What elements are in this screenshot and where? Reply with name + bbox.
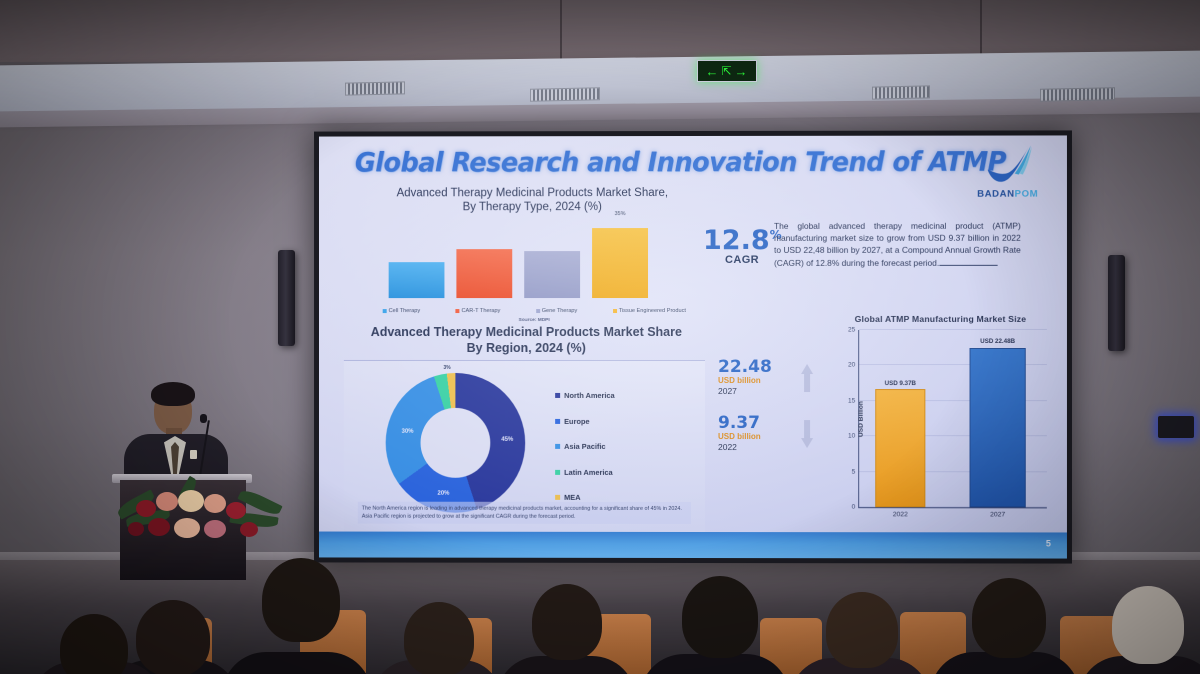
microphone-head (200, 414, 207, 423)
stat-2027: 22.48 USD billion 2027 (718, 358, 822, 397)
exit-arrow-left-icon: ← (705, 65, 719, 78)
stat-2022: 9.37 USD billion 2022 (718, 414, 822, 453)
region-insight-note: The North America region is leading in a… (358, 502, 691, 524)
legend-item-latin-america: Latin America (555, 459, 615, 485)
legend-item-cart-therapy: CAR-T Therapy (456, 308, 501, 314)
logo-text-badan: BADAN (977, 189, 1014, 200)
market-size-stats: 22.48 USD billion 2027 9.37 USD billion … (718, 358, 822, 470)
wall-speaker-right (1108, 255, 1125, 351)
exit-sign: ← ⇱ → (697, 60, 757, 82)
bar-cart-therapy (456, 249, 512, 298)
bar-cell-therapy (389, 262, 445, 298)
ytick-0: 0 (852, 504, 856, 511)
legend-item-cell-therapy: Cell Therapy (383, 308, 420, 314)
presenter-hair (151, 382, 195, 406)
market-size-chart-title: Global ATMP Manufacturing Market Size (828, 314, 1053, 324)
arrow-up-icon (800, 362, 814, 394)
audience-head (532, 584, 602, 660)
therapy-type-bar-chart: 35% Cell Therapy CAR-T Therapy Gene Ther… (381, 218, 688, 316)
market-size-plot-area: 0 5 10 15 20 25 USD Billion USD 9.37B 20… (858, 330, 1047, 508)
exit-arrow-right-icon: → (735, 65, 749, 78)
donut-label-latin-america: 3% (443, 365, 450, 371)
bar-2027-data-label: USD 22.48B (980, 338, 1015, 345)
bar-gene-therapy (524, 251, 580, 298)
bar-label-tissue: 35% (600, 211, 640, 217)
bar-2022-data-label: USD 9.37B (885, 380, 916, 387)
presenter-badge (190, 450, 197, 459)
bar-2027 (970, 348, 1026, 507)
cagr-stat: 12.8% CAGR (703, 222, 781, 266)
region-chart-title-line1: Advanced Therapy Medicinal Products Mark… (347, 324, 706, 340)
ytick-5: 5 (852, 468, 856, 475)
audience-head (404, 602, 474, 674)
audience (0, 556, 1200, 674)
legend-item-tissue-engineered: Tissue Engineered Product (613, 308, 686, 314)
therapy-type-chart-title-line1: Advanced Therapy Medicinal Products Mark… (383, 186, 682, 200)
donut-label-north-america: 45% (501, 437, 513, 443)
legend-item-north-america: North America (555, 383, 615, 409)
region-chart-title: Advanced Therapy Medicinal Products Mark… (347, 324, 706, 356)
ytick-25: 25 (848, 326, 855, 333)
wall-speaker-left (278, 250, 295, 346)
ceiling-vent-icon (530, 87, 600, 101)
checkmark-swoosh-icon (982, 144, 1034, 188)
audience-head (826, 592, 898, 668)
xtick-2022: 2022 (893, 511, 908, 518)
legend-item-asia-pacific: Asia Pacific (555, 434, 615, 460)
ytick-15: 15 (848, 397, 855, 404)
floral-arrangement (118, 478, 282, 550)
therapy-type-legend: Cell Therapy CAR-T Therapy Gene Therapy … (381, 308, 688, 314)
conference-room-photo: ← ⇱ → Global Research and Innovation Tre… (0, 0, 1200, 674)
logo-text: BADANPOM (966, 189, 1050, 200)
market-size-bar-chart: Global ATMP Manufacturing Market Size 0 … (828, 314, 1053, 537)
audience-head (262, 558, 340, 642)
projection-screen: Global Research and Innovation Trend of … (314, 130, 1072, 563)
cagr-value: 12.8% (703, 222, 781, 254)
wall-control-panel (1158, 416, 1194, 438)
presentation-slide: Global Research and Innovation Trend of … (319, 135, 1067, 558)
bar-2022 (875, 389, 925, 507)
legend-item-gene-therapy: Gene Therapy (536, 308, 578, 314)
audience-head (136, 600, 210, 674)
arrow-down-icon (800, 418, 814, 450)
therapy-type-plot-area: 35% (381, 220, 688, 298)
slide-title: Global Research and Innovation Trend of … (355, 147, 1006, 179)
badan-pom-logo: BADANPOM (966, 143, 1050, 205)
market-size-y-axis-label: USD Billion (858, 401, 865, 437)
logo-text-pom: POM (1015, 189, 1039, 200)
ceiling-vent-icon (1040, 87, 1115, 102)
gridline: 25 (859, 329, 1047, 330)
region-donut-chart: 45% 20% 30% 3% (386, 373, 526, 513)
audience-head (682, 576, 758, 658)
market-summary-paragraph: The global advanced therapy medicinal pr… (774, 220, 1021, 269)
ytick-20: 20 (848, 362, 855, 369)
slide-footer-bar: 5 (319, 532, 1067, 559)
region-chart-title-line2: By Region, 2024 (%) (347, 340, 706, 356)
ytick-10: 10 (848, 433, 855, 440)
audience-head (60, 614, 128, 674)
xtick-2027: 2027 (990, 511, 1005, 518)
legend-item-europe: Europe (555, 408, 615, 434)
donut-label-europe: 20% (437, 491, 449, 497)
audience-head (1112, 586, 1184, 664)
ceiling-vent-icon (345, 81, 405, 95)
bar-tissue-engineered-product (592, 228, 648, 298)
audience-head (972, 578, 1046, 658)
slide-page-number: 5 (1046, 538, 1051, 548)
donut-label-asia-pacific: 30% (402, 429, 414, 435)
therapy-type-chart-title: Advanced Therapy Medicinal Products Mark… (383, 186, 682, 214)
donut-hole (421, 408, 491, 478)
therapy-type-source: Source: MDPI (381, 318, 688, 323)
region-chart-card: 45% 20% 30% 3% North America Europe Asia… (344, 360, 705, 550)
running-person-icon: ⇱ (719, 64, 734, 78)
ceiling-vent-icon (872, 85, 930, 99)
ceiling-seam (560, 0, 562, 62)
region-legend: North America Europe Asia Pacific Latin … (555, 383, 615, 510)
